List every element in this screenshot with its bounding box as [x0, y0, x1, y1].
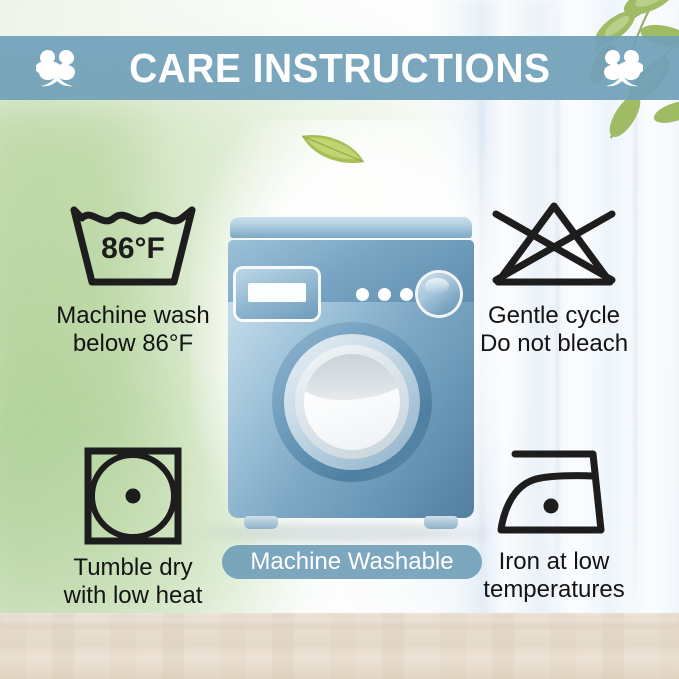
washer-button: [378, 288, 391, 301]
care-symbol-label: Machine wash below 86°F: [8, 302, 258, 359]
wash-tub-icon: 86°F: [8, 196, 258, 294]
washer-button: [400, 288, 413, 301]
page-title: CARE INSTRUCTIONS: [129, 48, 550, 89]
header-banner: CARE INSTRUCTIONS: [0, 36, 679, 100]
tumble-dry-square-icon: [8, 446, 258, 546]
table-edge-highlight: [0, 619, 679, 627]
floating-leaf-decoration: [298, 126, 368, 168]
washer-door: [272, 322, 432, 482]
triangle-crossed-icon: [432, 196, 676, 294]
washer-door-ring-inner: [295, 345, 409, 459]
care-instructions-graphic: CARE INSTRUCTIONS: [0, 0, 679, 679]
washer-door-ring-outer: [284, 334, 420, 470]
care-symbol-do-not-bleach: Gentle cycle Do not bleach: [432, 196, 676, 359]
iron-icon: [432, 446, 676, 540]
care-symbol-label: Gentle cycle Do not bleach: [432, 302, 676, 359]
washer-door-highlight: [304, 354, 400, 400]
fleur-de-lis-icon: [36, 46, 92, 90]
fleur-de-lis-icon: [587, 46, 643, 90]
care-symbol-label: Iron at low temperatures: [432, 548, 676, 605]
care-symbol-machine-wash: 86°F Machine wash below 86°F: [8, 196, 258, 359]
washer-door-glass: [304, 354, 400, 450]
care-symbol-iron-low: Iron at low temperatures: [432, 446, 676, 605]
wash-temperature-value: 86°F: [101, 232, 165, 265]
washer-button: [356, 288, 369, 301]
badge-label: Machine Washable: [250, 550, 453, 574]
care-symbol-tumble-dry: Tumble dry with low heat: [8, 446, 258, 611]
care-symbol-label: Tumble dry with low heat: [8, 554, 258, 611]
